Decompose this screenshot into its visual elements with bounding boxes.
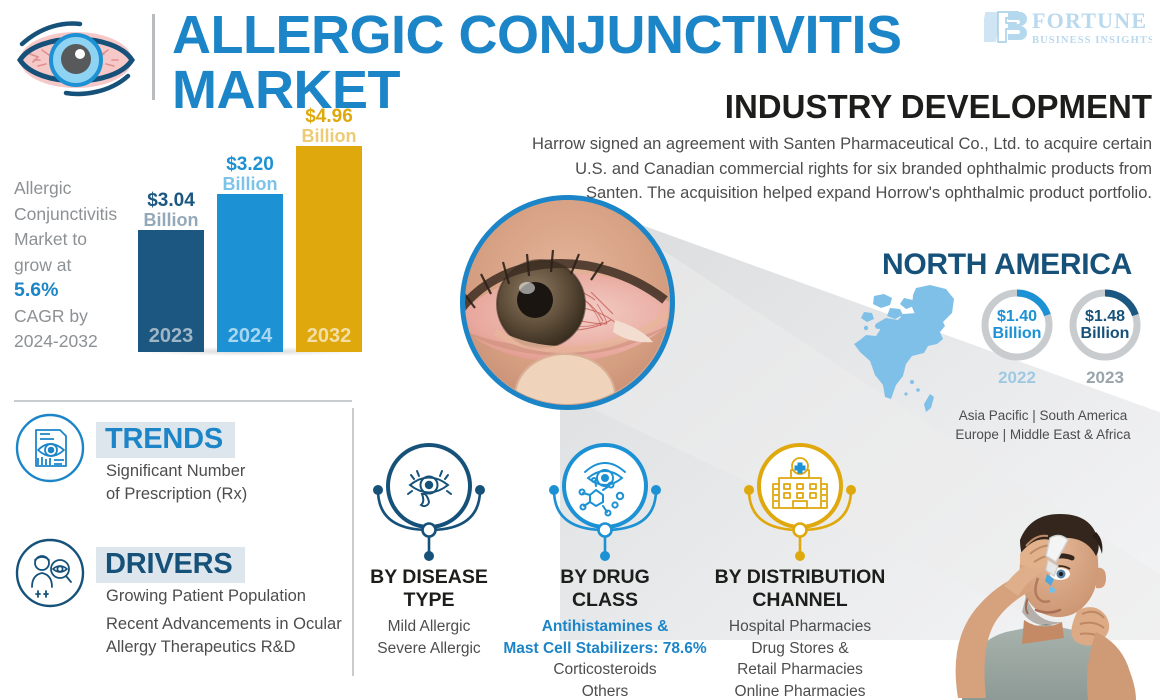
patient-examination-icon — [14, 537, 86, 609]
summary-line-5: CAGR by — [14, 304, 134, 330]
industry-development-heading: INDUSTRY DEVELOPMENT — [500, 88, 1152, 126]
trends-item: of Prescription (Rx) — [106, 483, 247, 506]
region-heading: NORTH AMERICA — [858, 248, 1156, 282]
summary-line-6: 2024-2032 — [14, 329, 134, 355]
cagr-value: 5.6% — [14, 278, 134, 304]
summary-line-1: Allergic — [14, 176, 134, 202]
segment-item: Corticosteroids — [500, 659, 710, 681]
trends-item: Significant Number — [106, 460, 247, 483]
segment-items-drug-class: Antihistamines & Mast Cell Stabilizers: … — [500, 616, 710, 700]
fortune-business-insights-logo[interactable]: FORTUNE BUSINESS INSIGHTS — [984, 8, 1152, 52]
trends-items: Significant Number of Prescription (Rx) — [106, 460, 247, 506]
other-regions: Asia Pacific | South America Europe | Mi… — [930, 406, 1156, 444]
segment-title-drug-class: BY DRUG CLASS — [510, 566, 700, 612]
other-regions-line1: Asia Pacific | South America — [930, 406, 1156, 425]
segment-item: Retail Pharmacies — [695, 659, 905, 681]
segment-item: Others — [500, 681, 710, 700]
bar-label-2032: 2032 — [296, 325, 362, 348]
hospital-building-icon — [733, 438, 868, 563]
segment-item: Hospital Pharmacies — [695, 616, 905, 638]
red-eye-photo — [460, 195, 675, 410]
summary-line-3: Market to — [14, 227, 134, 253]
man-applying-eye-drops-photo — [900, 492, 1160, 700]
divider-horizontal-left — [14, 400, 352, 402]
bar-label-2023: 2023 — [138, 325, 204, 348]
bar-rect-2032 — [296, 146, 362, 352]
drivers-items: Growing Patient Population Recent Advanc… — [106, 585, 342, 659]
donut-2022-label: $1.40 Billion — [978, 308, 1056, 342]
drivers-item: Recent Advancements in Ocular — [106, 613, 342, 636]
drivers-item: Allergy Therapeutics R&D — [106, 636, 342, 659]
prescription-eye-icon — [14, 412, 86, 484]
segment-item: Drug Stores & — [695, 638, 905, 660]
page-title-line1: ALLERGIC CONJUNCTIVITIS — [172, 8, 962, 63]
donut-2023-label: $1.48 Billion — [1066, 308, 1144, 342]
summary-line-4: grow at — [14, 253, 134, 279]
drivers-item: Growing Patient Population — [106, 585, 342, 608]
trends-block: TRENDS Significant Number of Prescriptio… — [14, 412, 344, 512]
segment-title-distribution-channel: BY DISTRIBUTION CHANNEL — [705, 566, 895, 612]
brand-tagline: BUSINESS INSIGHTS — [1032, 35, 1152, 46]
market-summary-text: Allergic Conjunctivitis Market to grow a… — [14, 176, 134, 355]
other-regions-line2: Europe | Middle East & Africa — [930, 425, 1156, 444]
trends-heading: TRENDS — [96, 422, 235, 458]
brand-mark-icon — [984, 12, 1027, 42]
segment-item: Online Pharmacies — [695, 681, 905, 700]
brand-name: FORTUNE — [1032, 8, 1147, 33]
segment-items-distribution-channel: Hospital Pharmacies Drug Stores & Retail… — [695, 616, 905, 700]
drivers-heading: DRIVERS — [96, 547, 245, 583]
bar-value-2024: $3.20 Billion — [211, 155, 289, 194]
allergic-eye-icon — [8, 14, 144, 106]
drivers-block: DRIVERS Growing Patient Population Recen… — [14, 537, 344, 667]
segment-item-highlight: Mast Cell Stabilizers: 78.6% — [500, 638, 710, 660]
infographic-root: ALLERGIC CONJUNCTIVITIS MARKET FORTUNE B… — [0, 0, 1160, 700]
summary-line-2: Conjunctivitis — [14, 202, 134, 228]
title-divider — [152, 14, 155, 100]
segment-title-disease-type: BY DISEASE TYPE — [334, 566, 524, 612]
donut-2022-year: 2022 — [978, 368, 1056, 388]
bar-label-2024: 2024 — [217, 325, 283, 348]
market-size-bar-chart: $3.04 Billion 2023 $3.20 Billion 2024 $4… — [130, 130, 370, 370]
donut-2023: $1.48 Billion — [1066, 286, 1144, 364]
donut-2023-year: 2023 — [1066, 368, 1144, 388]
bar-value-2032: $4.96 Billion — [290, 107, 368, 146]
bar-value-2023: $3.04 Billion — [132, 191, 210, 230]
industry-development-body: Harrow signed an agreement with Santen P… — [520, 132, 1152, 206]
segment-item-highlight: Antihistamines & — [500, 616, 710, 638]
eye-molecule-icon — [538, 438, 673, 563]
donut-2022: $1.40 Billion — [978, 286, 1056, 364]
allergic-eye-teardrop-icon — [362, 438, 497, 563]
